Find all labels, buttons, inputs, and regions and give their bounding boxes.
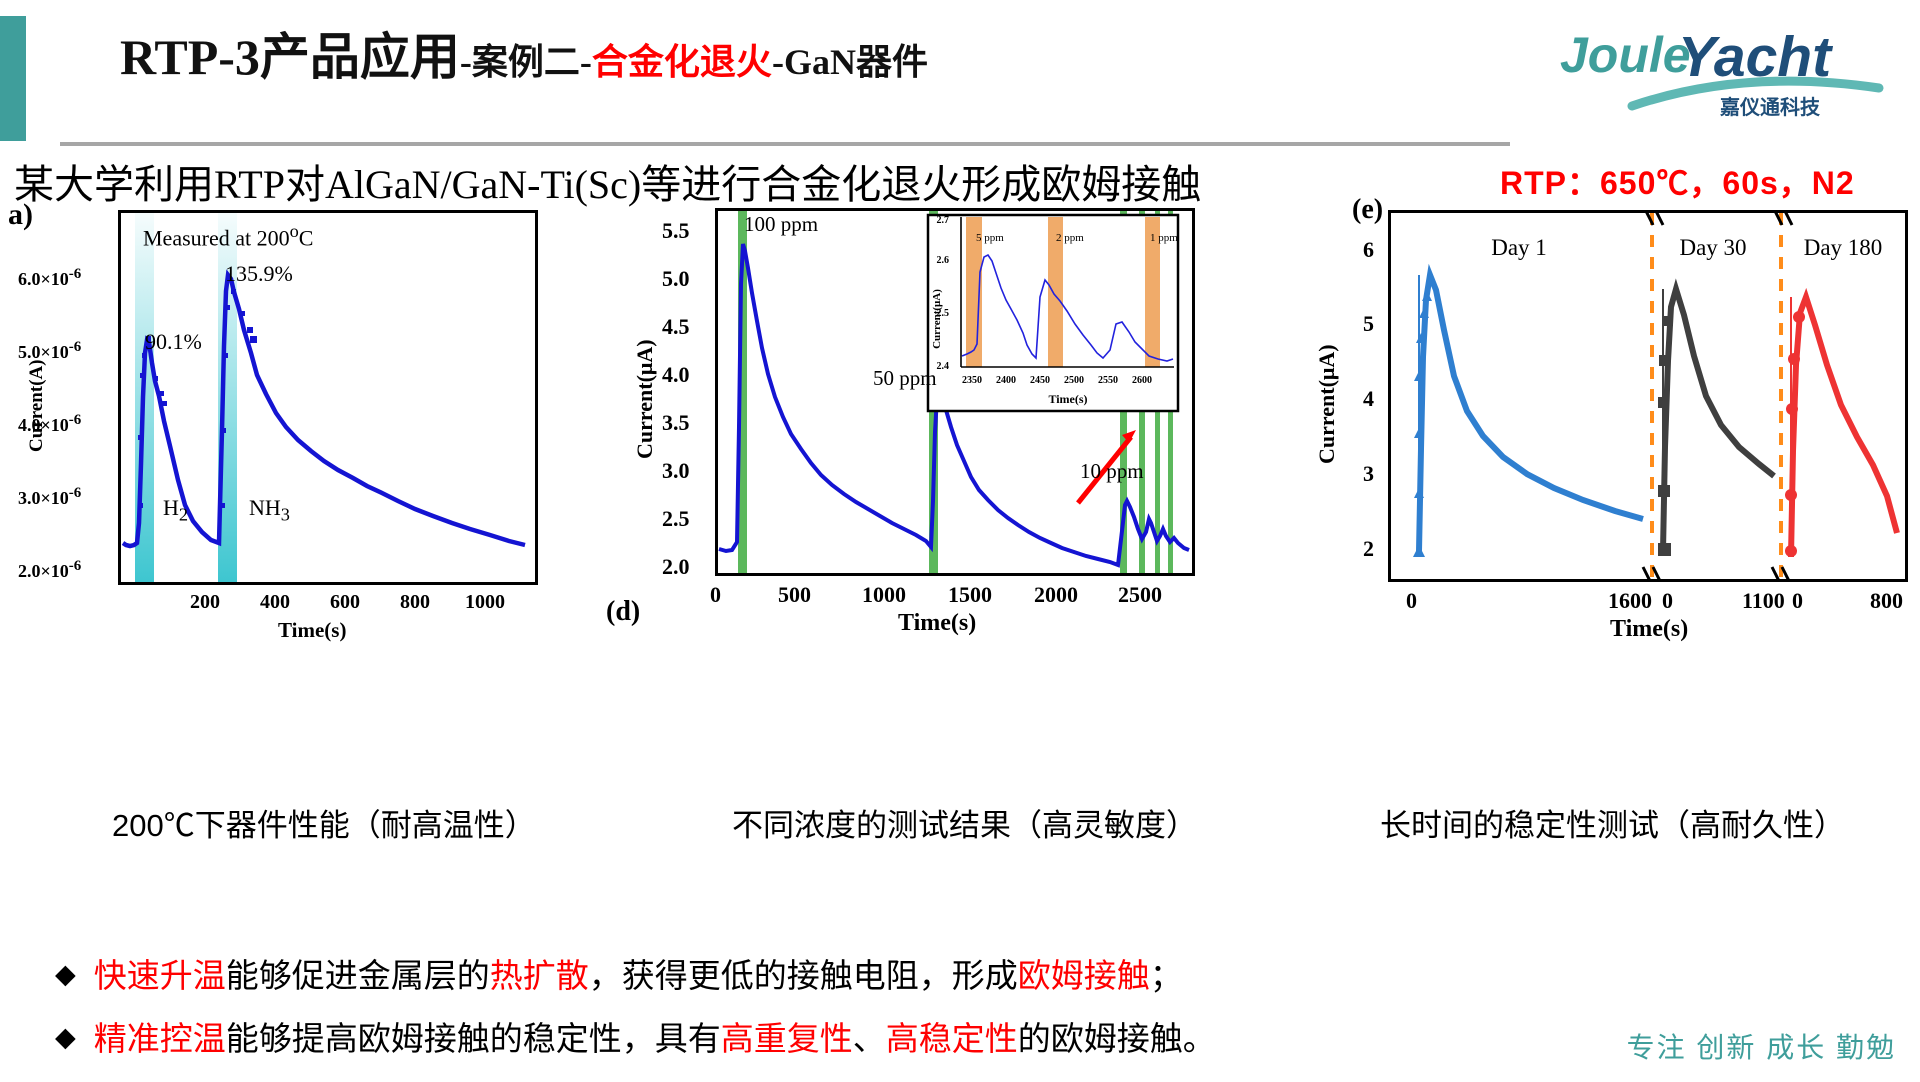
panel-d-xtick-3: 1500	[948, 582, 992, 608]
panel-e-ytick-0: 2	[1363, 536, 1374, 562]
panel-a-xlabel: Time(s)	[278, 618, 346, 643]
bullet-1-part-2: 高重复性	[721, 1020, 853, 1057]
svg-text:2350: 2350	[962, 375, 982, 386]
panel-a-ytick-3: 5.0×10-6	[18, 339, 81, 363]
panel-e-series-day180	[1791, 297, 1897, 557]
panel-e-ylabel: Current(μA)	[1314, 314, 1340, 464]
bullet-0-part-5: ；	[1150, 957, 1183, 994]
panel-a-xtick-4: 1000	[465, 591, 505, 614]
figure-panel-e: (e) Current(μA) 2 3 4 5 6	[1270, 196, 1920, 666]
panel-a-annot-h2: H2	[163, 495, 188, 525]
bullet-0-part-0: 快速升温	[94, 957, 226, 994]
panel-d-label-50ppm: 50 ppm	[873, 366, 937, 390]
panel-a-xtick-0: 200	[190, 591, 220, 614]
panel-d-ytick-6: 5.0	[662, 266, 690, 292]
svg-text:2 ppm: 2 ppm	[1056, 232, 1084, 244]
panel-a-annot-1359: 135.9%	[225, 261, 293, 287]
svg-text:2450: 2450	[1030, 375, 1050, 386]
bullet-0-part-3: ，获得更低的接触电阻，形成	[589, 957, 1018, 994]
bullet-text: 精准控温能够提高欧姆接触的稳定性，具有高重复性、高稳定性的欧姆接触。	[94, 1018, 1216, 1059]
panel-a-annot-901: 90.1%	[145, 329, 202, 355]
panel-a-xtick-1: 400	[260, 591, 290, 614]
logo-text-cn: 嘉仪通科技	[1719, 95, 1821, 118]
title-dash-2: -	[580, 42, 592, 82]
bullet-0-part-2: 热扩散	[490, 957, 589, 994]
svg-text:2.7: 2.7	[937, 215, 950, 226]
svg-text:Current(μA): Current(μA)	[931, 289, 943, 349]
panel-d-inset: 2.7 2.6 2.5 2.4 Current(μA) 2350 2400 24…	[928, 215, 1178, 411]
panel-a-annot-measured: Measured at 200oC	[143, 221, 313, 251]
panel-a-ytick-2: 4.0×10-6	[18, 412, 81, 436]
figure-caption-e: 长时间的稳定性测试（高耐久性）	[1380, 800, 1845, 845]
panel-d-xtick-5: 2500	[1118, 582, 1162, 608]
panel-e-label-day1: Day 1	[1491, 235, 1547, 260]
panel-e-plot: Day 1 Day 30 Day 180	[1388, 210, 1908, 582]
panel-e-xlabel: Time(s)	[1610, 616, 1688, 643]
panel-a-annot-nh3: NH3	[249, 495, 290, 525]
panel-e-label-day180: Day 180	[1804, 235, 1883, 260]
bullet-1-part-5: 的欧姆接触。	[1018, 1020, 1216, 1057]
figure-caption-d: 不同浓度的测试结果（高灵敏度）	[732, 800, 1197, 845]
panel-e-xtick-day30-1: 1100	[1742, 588, 1785, 614]
bullet-1-part-3: 、	[853, 1020, 886, 1057]
panel-a-markers	[138, 289, 257, 508]
panel-d-ytick-3: 3.5	[662, 410, 690, 436]
panel-d-ytick-7: 5.5	[662, 218, 690, 244]
panel-a-tag: a)	[8, 198, 33, 232]
panel-d-ylabel: Current(μA)	[632, 309, 658, 459]
header-divider	[60, 142, 1510, 146]
figures-area: a) Current(A) 2.0×10-6 3.0×10-6 4.0×10-6…	[0, 196, 1920, 756]
panel-d-xlabel: Time(s)	[898, 610, 976, 637]
panel-d-xtick-1: 500	[778, 582, 811, 608]
panel-d-ytick-2: 3.0	[662, 458, 690, 484]
title-highlight: 合金化退火	[592, 42, 772, 82]
panel-d-label-10ppm: 10 ppm	[1080, 459, 1144, 483]
panel-e-ytick-2: 4	[1363, 386, 1374, 412]
svg-text:2.6: 2.6	[937, 255, 950, 266]
panel-d-tag: (d)	[606, 596, 640, 628]
figure-caption-a: 200℃下器件性能（耐高温性）	[112, 800, 536, 845]
panel-e-xtick-day180-0: 0	[1792, 588, 1803, 614]
panel-e-series-day1	[1419, 275, 1643, 551]
panel-e-xtick-day1-0: 0	[1406, 588, 1417, 614]
title-tail: GaN器件	[784, 42, 928, 82]
logo-text-joule: Joule	[1560, 27, 1691, 83]
bullet-text: 快速升温能够促进金属层的热扩散，获得更低的接触电阻，形成欧姆接触；	[94, 955, 1183, 996]
panel-d-xtick-2: 1000	[862, 582, 906, 608]
conclusion-bullets: ◆ 快速升温能够促进金属层的热扩散，获得更低的接触电阻，形成欧姆接触； ◆ 精准…	[55, 955, 1555, 1082]
panel-a-plot: Measured at 200oC 90.1% 135.9% H2 NH3	[118, 210, 538, 585]
jouleyacht-logo: Joule Yacht 嘉仪通科技	[1554, 14, 1884, 118]
bullet-item: ◆ 精准控温能够提高欧姆接触的稳定性，具有高重复性、高稳定性的欧姆接触。	[55, 1018, 1555, 1059]
bullet-1-part-4: 高稳定性	[886, 1020, 1018, 1057]
svg-text:Time(s): Time(s)	[1048, 392, 1087, 406]
panel-e-series-day30	[1663, 289, 1774, 551]
panel-d-xtick-0: 0	[710, 582, 721, 608]
panel-e-ytick-3: 5	[1363, 311, 1374, 337]
panel-a-ytick-0: 2.0×10-6	[18, 558, 81, 582]
panel-a-ytick-4: 6.0×10-6	[18, 266, 81, 290]
panel-d-xtick-4: 2000	[1034, 582, 1078, 608]
bullet-1-part-1: 能够提高欧姆接触的稳定性，具有	[226, 1020, 721, 1057]
page-title: RTP-3产品应用-案例二-合金化退火-GaN器件	[120, 32, 928, 82]
bullet-marker-icon: ◆	[55, 955, 76, 994]
panel-d-ytick-1: 2.5	[662, 506, 690, 532]
panel-d-label-100ppm: 100 ppm	[744, 212, 818, 236]
panel-e-xtick-day30-0: 0	[1662, 588, 1673, 614]
title-main: RTP-3产品应用	[120, 29, 460, 85]
panel-e-tag: (e)	[1352, 194, 1383, 226]
panel-d-ytick-4: 4.0	[662, 362, 690, 388]
svg-text:2400: 2400	[996, 375, 1016, 386]
svg-text:5 ppm: 5 ppm	[976, 232, 1004, 244]
svg-text:2.4: 2.4	[937, 361, 950, 372]
panel-e-ytick-4: 6	[1363, 237, 1374, 263]
footer-slogan: 专注 创新 成长 勤勉	[1627, 1026, 1896, 1066]
bullet-1-part-0: 精准控温	[94, 1020, 226, 1057]
panel-d-ytick-5: 4.5	[662, 314, 690, 340]
svg-text:1 ppm: 1 ppm	[1150, 232, 1178, 244]
bullet-marker-icon: ◆	[55, 1018, 76, 1057]
title-dash-3: -	[772, 42, 784, 82]
panel-d-ytick-0: 2.0	[662, 554, 690, 580]
figure-panel-d: (d) Current(μA) 2.0 2.5 3.0 3.5 4.0 4.5 …	[600, 196, 1260, 666]
panel-e-xtick-day180-1: 800	[1870, 588, 1903, 614]
panel-a-xtick-2: 600	[330, 591, 360, 614]
svg-text:2500: 2500	[1064, 375, 1084, 386]
bullet-0-part-4: 欧姆接触	[1018, 957, 1150, 994]
bullet-item: ◆ 快速升温能够促进金属层的热扩散，获得更低的接触电阻，形成欧姆接触；	[55, 955, 1555, 996]
panel-e-xtick-day1-1: 1600	[1608, 588, 1652, 614]
title-dash-1: -	[460, 42, 472, 82]
panel-a-xtick-3: 800	[400, 591, 430, 614]
panel-e-ytick-1: 3	[1363, 461, 1374, 487]
header-accent-bar	[0, 16, 26, 141]
svg-text:2600: 2600	[1132, 375, 1152, 386]
figure-panel-a: a) Current(A) 2.0×10-6 3.0×10-6 4.0×10-6…	[0, 196, 600, 666]
panel-a-ytick-1: 3.0×10-6	[18, 485, 81, 509]
svg-text:2550: 2550	[1098, 375, 1118, 386]
title-case: 案例二	[472, 42, 580, 82]
panel-e-label-day30: Day 30	[1679, 235, 1746, 260]
panel-d-plot: 2.7 2.6 2.5 2.4 Current(μA) 2350 2400 24…	[715, 208, 1195, 576]
bullet-0-part-1: 能够促进金属层的	[226, 957, 490, 994]
